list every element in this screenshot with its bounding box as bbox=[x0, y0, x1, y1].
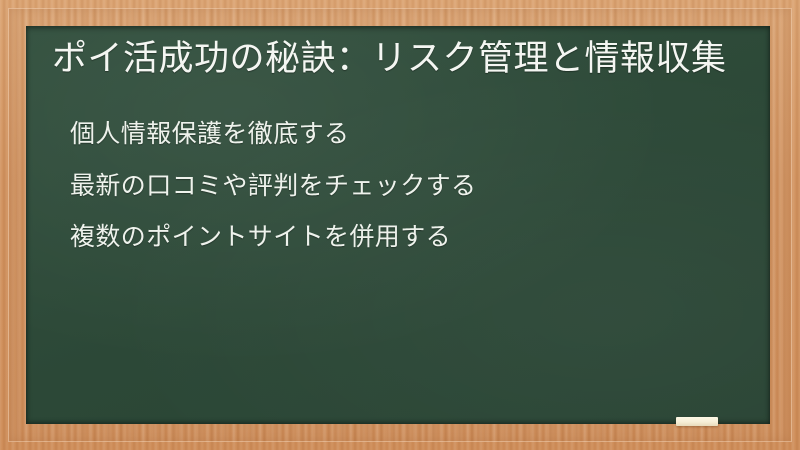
list-item: 個人情報保護を徹底する bbox=[52, 120, 744, 150]
chalkboard-slide: ポイ活成功の秘訣：リスク管理と情報収集 個人情報保護を徹底する 最新の口コミや評… bbox=[0, 0, 800, 450]
page-title: ポイ活成功の秘訣：リスク管理と情報収集 bbox=[52, 36, 744, 82]
chalk-stick-icon bbox=[676, 417, 718, 426]
bullet-list: 個人情報保護を徹底する 最新の口コミや評判をチェックする 複数のポイントサイトを… bbox=[52, 120, 744, 253]
chalkboard-surface: ポイ活成功の秘訣：リスク管理と情報収集 個人情報保護を徹底する 最新の口コミや評… bbox=[26, 26, 770, 424]
list-item: 最新の口コミや評判をチェックする bbox=[52, 172, 744, 202]
chalkboard-content: ポイ活成功の秘訣：リスク管理と情報収集 個人情報保護を徹底する 最新の口コミや評… bbox=[26, 26, 770, 424]
list-item: 複数のポイントサイトを併用する bbox=[52, 223, 744, 253]
